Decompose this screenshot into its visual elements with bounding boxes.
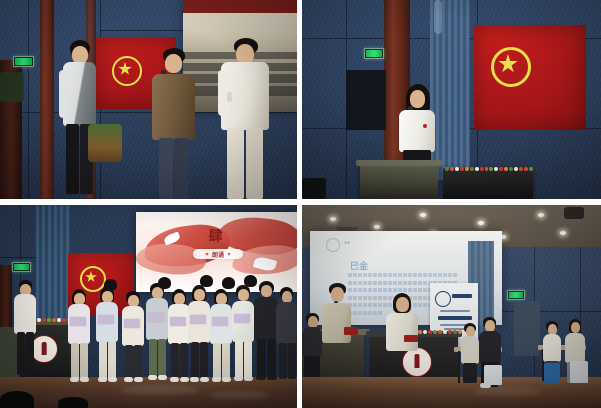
potted-plant — [0, 72, 24, 102]
recitation-card — [124, 319, 140, 328]
handheld-object — [227, 92, 232, 102]
photo-top-right[interactable] — [302, 0, 601, 199]
star-icon — [205, 252, 209, 256]
recitation-card — [190, 315, 206, 324]
person-at-podium — [12, 280, 38, 375]
ceiling-projector — [564, 207, 584, 219]
recitation-card — [148, 313, 164, 322]
person-standing-right — [218, 38, 274, 199]
ceiling-light — [538, 213, 544, 217]
student-reciting — [274, 287, 297, 379]
star-icon — [227, 252, 231, 256]
ceiling-light — [478, 221, 484, 225]
stool — [544, 363, 560, 383]
recitation-card — [70, 317, 86, 326]
exit-sign-icon — [507, 290, 525, 300]
podium-top — [356, 160, 442, 166]
background-student-head — [222, 277, 235, 289]
school-emblem — [402, 347, 432, 377]
youth-league-flag — [474, 25, 586, 130]
seated-student — [302, 313, 324, 377]
background-student-head — [104, 279, 117, 291]
student-reciting — [66, 289, 92, 381]
slide-logo-icon — [326, 238, 340, 252]
podium — [360, 163, 438, 199]
audience-silhouette — [58, 397, 88, 408]
ceiling-light — [420, 213, 426, 217]
photo-top-left[interactable] — [0, 0, 297, 199]
wood-column — [40, 0, 54, 199]
person-standing-left — [58, 40, 100, 199]
exit-sign-icon — [12, 262, 31, 272]
person-host-male — [320, 283, 354, 343]
red-folder — [404, 335, 418, 342]
exit-sign-icon — [364, 48, 384, 59]
wall-recess — [346, 70, 386, 130]
background-student-head — [158, 277, 171, 289]
photo-bottom-right[interactable]: ●● 巳金 — [302, 205, 601, 408]
person-with-microphone-center — [148, 48, 200, 199]
flower-arrangement — [445, 147, 533, 171]
background-student-head — [244, 275, 257, 287]
slide-title: 肆 — [136, 226, 297, 246]
stage-curtain — [36, 205, 70, 325]
recitation-card — [234, 314, 250, 323]
ceiling-light — [374, 225, 380, 229]
foreground-chair — [302, 178, 326, 199]
audience-silhouette — [0, 391, 34, 408]
flower-basket — [88, 124, 122, 162]
photo-bottom-left[interactable]: 肆 朗诵 — [0, 205, 297, 408]
doorway — [514, 301, 540, 356]
university-logo-icon — [435, 291, 451, 307]
recitation-card — [98, 315, 114, 324]
slide-image-band — [183, 0, 297, 13]
ceiling-light — [330, 217, 336, 221]
wall-seam — [28, 0, 29, 199]
person-host-female — [384, 293, 420, 348]
flower-box — [443, 168, 533, 199]
recitation-card — [212, 317, 228, 326]
stool — [484, 365, 502, 385]
background-student-head — [200, 275, 213, 287]
student-reciting — [94, 287, 120, 381]
slide-subtitle-pill: 朗诵 — [193, 249, 243, 259]
slide-logo-text: ●● — [344, 240, 350, 246]
ceiling-light — [560, 231, 566, 235]
red-folder — [344, 327, 358, 335]
recitation-card — [170, 317, 186, 326]
seated-student — [460, 323, 480, 383]
slide-heading: 巳金 — [350, 259, 368, 272]
photo-collage: 肆 朗诵 — [0, 0, 601, 408]
stool — [570, 361, 588, 383]
exit-sign-icon — [13, 56, 34, 67]
lapel-pin — [423, 124, 427, 128]
student-reciting — [120, 291, 146, 381]
slide-subtitle-text: 朗诵 — [212, 250, 224, 259]
